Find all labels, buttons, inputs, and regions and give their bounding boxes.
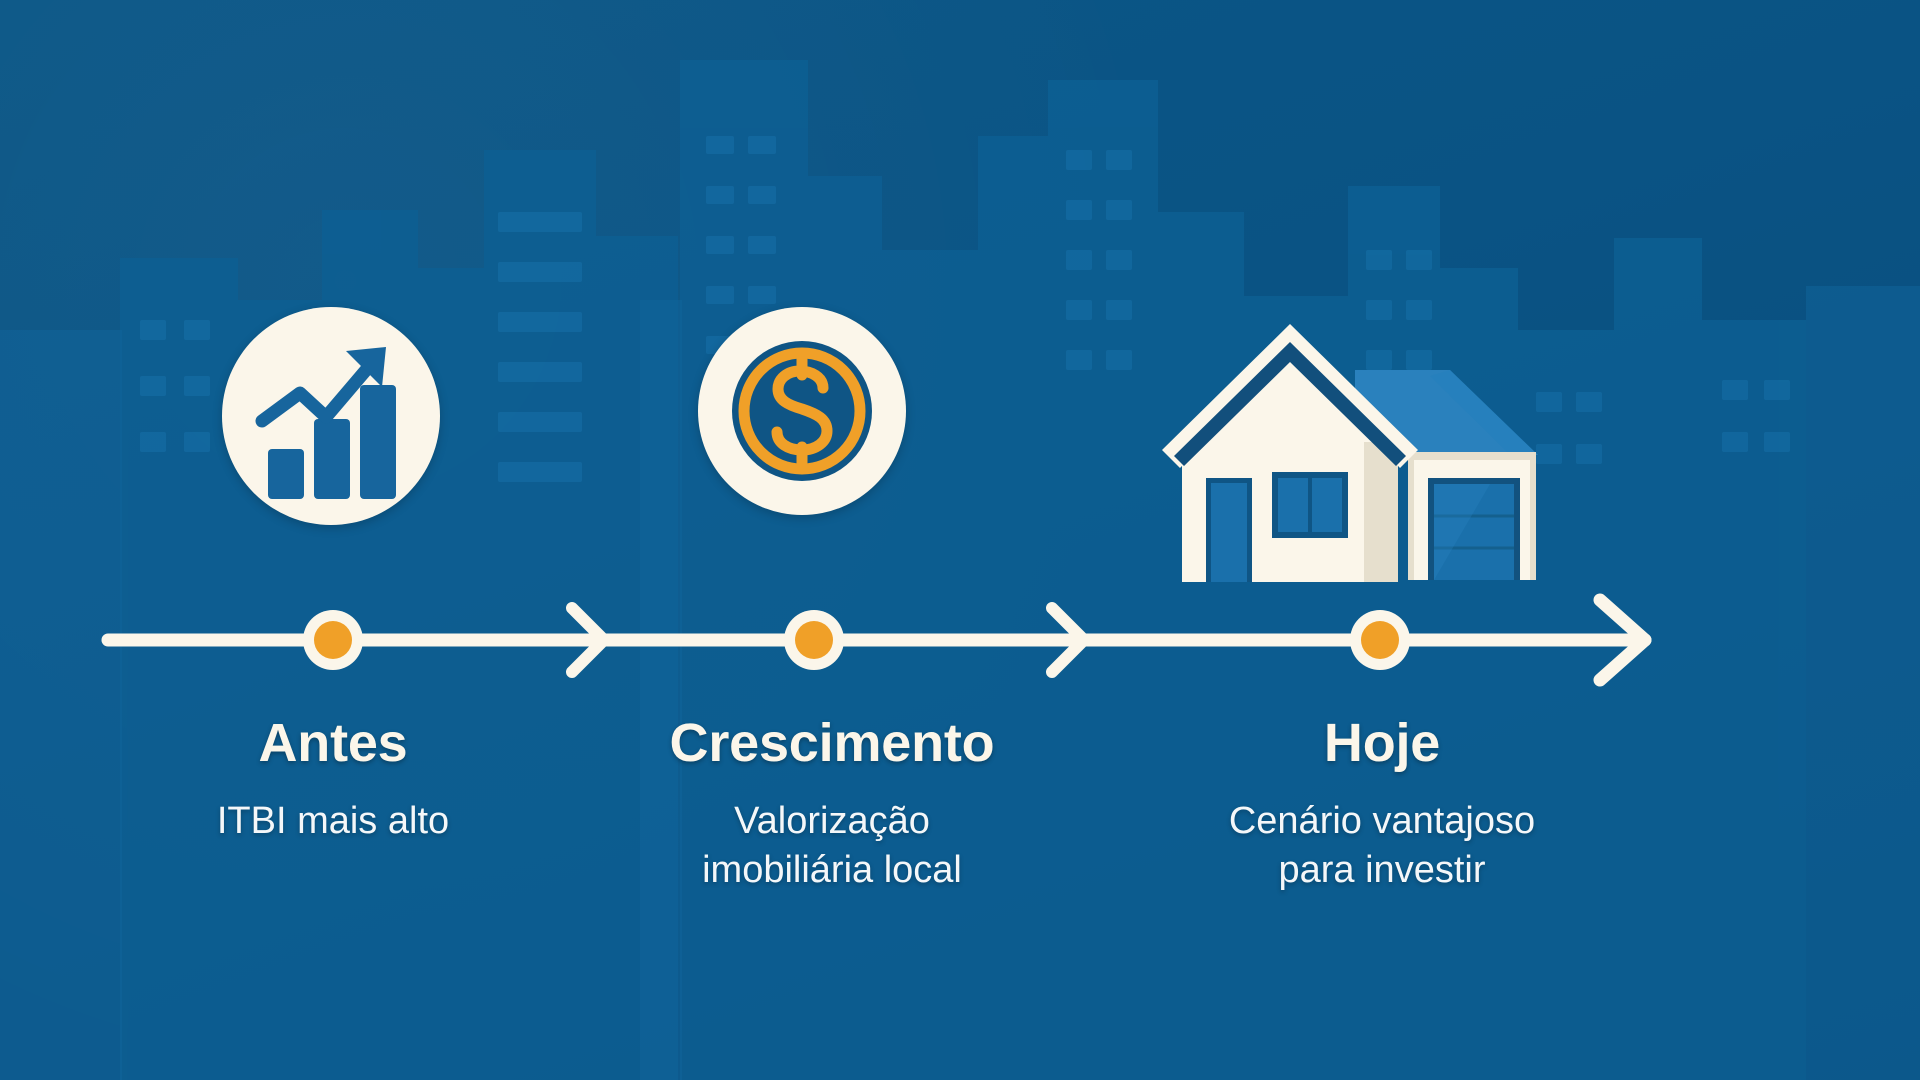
dollar-coin-icon: [698, 307, 906, 515]
step-antes-title: Antes: [118, 716, 548, 770]
step-antes-subtitle: ITBI mais alto: [118, 797, 548, 846]
house-icon: [1150, 320, 1540, 590]
chevron-2-icon: [1052, 608, 1084, 672]
step-antes-subtitle-line-1: ITBI mais alto: [118, 797, 548, 846]
step-hoje-subtitle: Cenário vantajoso para investir: [1147, 797, 1617, 896]
chevron-1-icon: [572, 608, 604, 672]
step-hoje-subtitle-line-2: para investir: [1147, 846, 1617, 895]
step-crescimento: Crescimento Valorização imobiliária loca…: [597, 716, 1067, 896]
city-skyline-background: [0, 0, 1920, 1080]
growth-chart-icon: [222, 307, 440, 525]
step-crescimento-title: Crescimento: [597, 716, 1067, 770]
step-crescimento-subtitle: Valorização imobiliária local: [597, 797, 1067, 896]
timeline: [0, 0, 1920, 1080]
step-crescimento-subtitle-line-1: Valorização: [597, 797, 1067, 846]
infographic-canvas: Antes ITBI mais alto Crescimento Valoriz…: [0, 0, 1920, 1080]
step-hoje: Hoje Cenário vantajoso para investir: [1147, 716, 1617, 896]
timeline-node-antes: [303, 610, 363, 670]
step-antes: Antes ITBI mais alto: [118, 716, 548, 846]
timeline-node-crescimento: [784, 610, 844, 670]
step-crescimento-subtitle-line-2: imobiliária local: [597, 846, 1067, 895]
timeline-node-hoje: [1350, 610, 1410, 670]
step-hoje-subtitle-line-1: Cenário vantajoso: [1147, 797, 1617, 846]
step-hoje-title: Hoje: [1147, 716, 1617, 770]
arrow-right-icon: [1600, 600, 1645, 680]
